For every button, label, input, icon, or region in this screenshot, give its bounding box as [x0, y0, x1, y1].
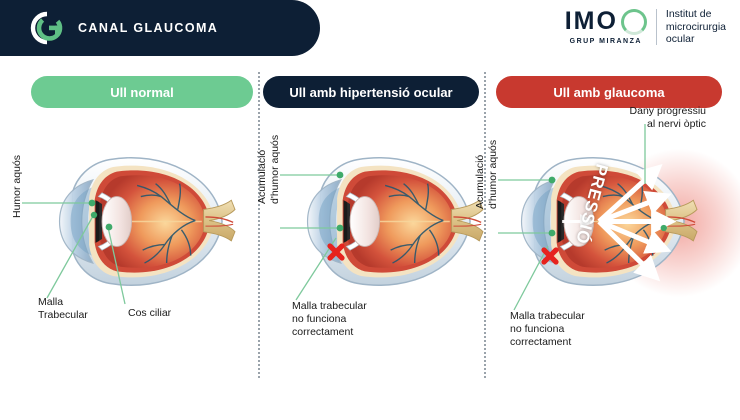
- header-banner: CANAL GLAUCOMA: [0, 0, 320, 56]
- malla-x-mark-icon: [326, 242, 344, 260]
- humor-aquos-dot-icon: [89, 200, 96, 207]
- acumulacio-dot-top-icon: [549, 177, 556, 184]
- panel-hipertensio: Acumulació d'humor aquós Malla trabecula…: [258, 110, 484, 410]
- panel-normal: Humor aquós Malla Trabecular Cos ciliar: [0, 110, 258, 410]
- label-acumulacio-humor-aquos: Acumulació d'humor aquós: [256, 135, 282, 204]
- imo-subtitle: GRUP MIRANZA: [570, 38, 642, 45]
- label-malla-trabecular: Malla Trabecular: [38, 296, 88, 322]
- acumulacio-dot-bottom-icon: [549, 230, 556, 237]
- infographic-canvas: CANAL GLAUCOMA IMO GRUP MIRANZA Institut…: [0, 0, 740, 420]
- label-malla-no-funciona: Malla trabecular no funciona correctamen…: [510, 310, 585, 349]
- label-acumulacio-humor-aquos: Acumulació d'humor aquós: [474, 140, 500, 209]
- imo-mark: IMO: [565, 9, 647, 35]
- cos-ciliar-dot-icon: [106, 224, 113, 231]
- label-dany-nervi-optic: Dany progressiu al nervi òptic: [596, 105, 706, 131]
- label-malla-no-funciona: Malla trabecular no funciona correctamen…: [292, 300, 367, 339]
- leader-lines-normal: [0, 110, 258, 370]
- imo-mark-group: IMO GRUP MIRANZA: [565, 9, 656, 45]
- acumulacio-dot-bottom-icon: [337, 225, 344, 232]
- imo-description-line3: ocular: [666, 33, 726, 46]
- acumulacio-dot-top-icon: [337, 172, 344, 179]
- imo-description-line2: microcirurgia: [666, 21, 726, 34]
- imo-description-line1: Institut de: [666, 8, 726, 21]
- section-title-normal: Ull normal: [31, 76, 253, 108]
- brand-name: CANAL GLAUCOMA: [78, 21, 218, 35]
- canal-glaucoma-g-logo-icon: [30, 11, 64, 45]
- imo-o-ring-icon: [621, 9, 647, 35]
- label-cos-ciliar: Cos ciliar: [128, 307, 171, 320]
- label-humor-aquos: Humor aquós: [11, 155, 24, 218]
- section-title-hipertensio: Ull amb hipertensió ocular: [263, 76, 479, 108]
- imo-letters: IMO: [565, 9, 618, 34]
- imo-logo: IMO GRUP MIRANZA Institut de microcirurg…: [565, 8, 726, 46]
- panel-glaucoma: PRESSIÓ Acumulació d'humor aquós Malla t…: [484, 110, 740, 410]
- imo-description: Institut de microcirurgia ocular: [657, 8, 726, 46]
- malla-trabecular-dot-icon: [91, 212, 97, 218]
- section-title-glaucoma: Ull amb glaucoma: [496, 76, 722, 108]
- malla-x-mark-icon: [540, 246, 558, 264]
